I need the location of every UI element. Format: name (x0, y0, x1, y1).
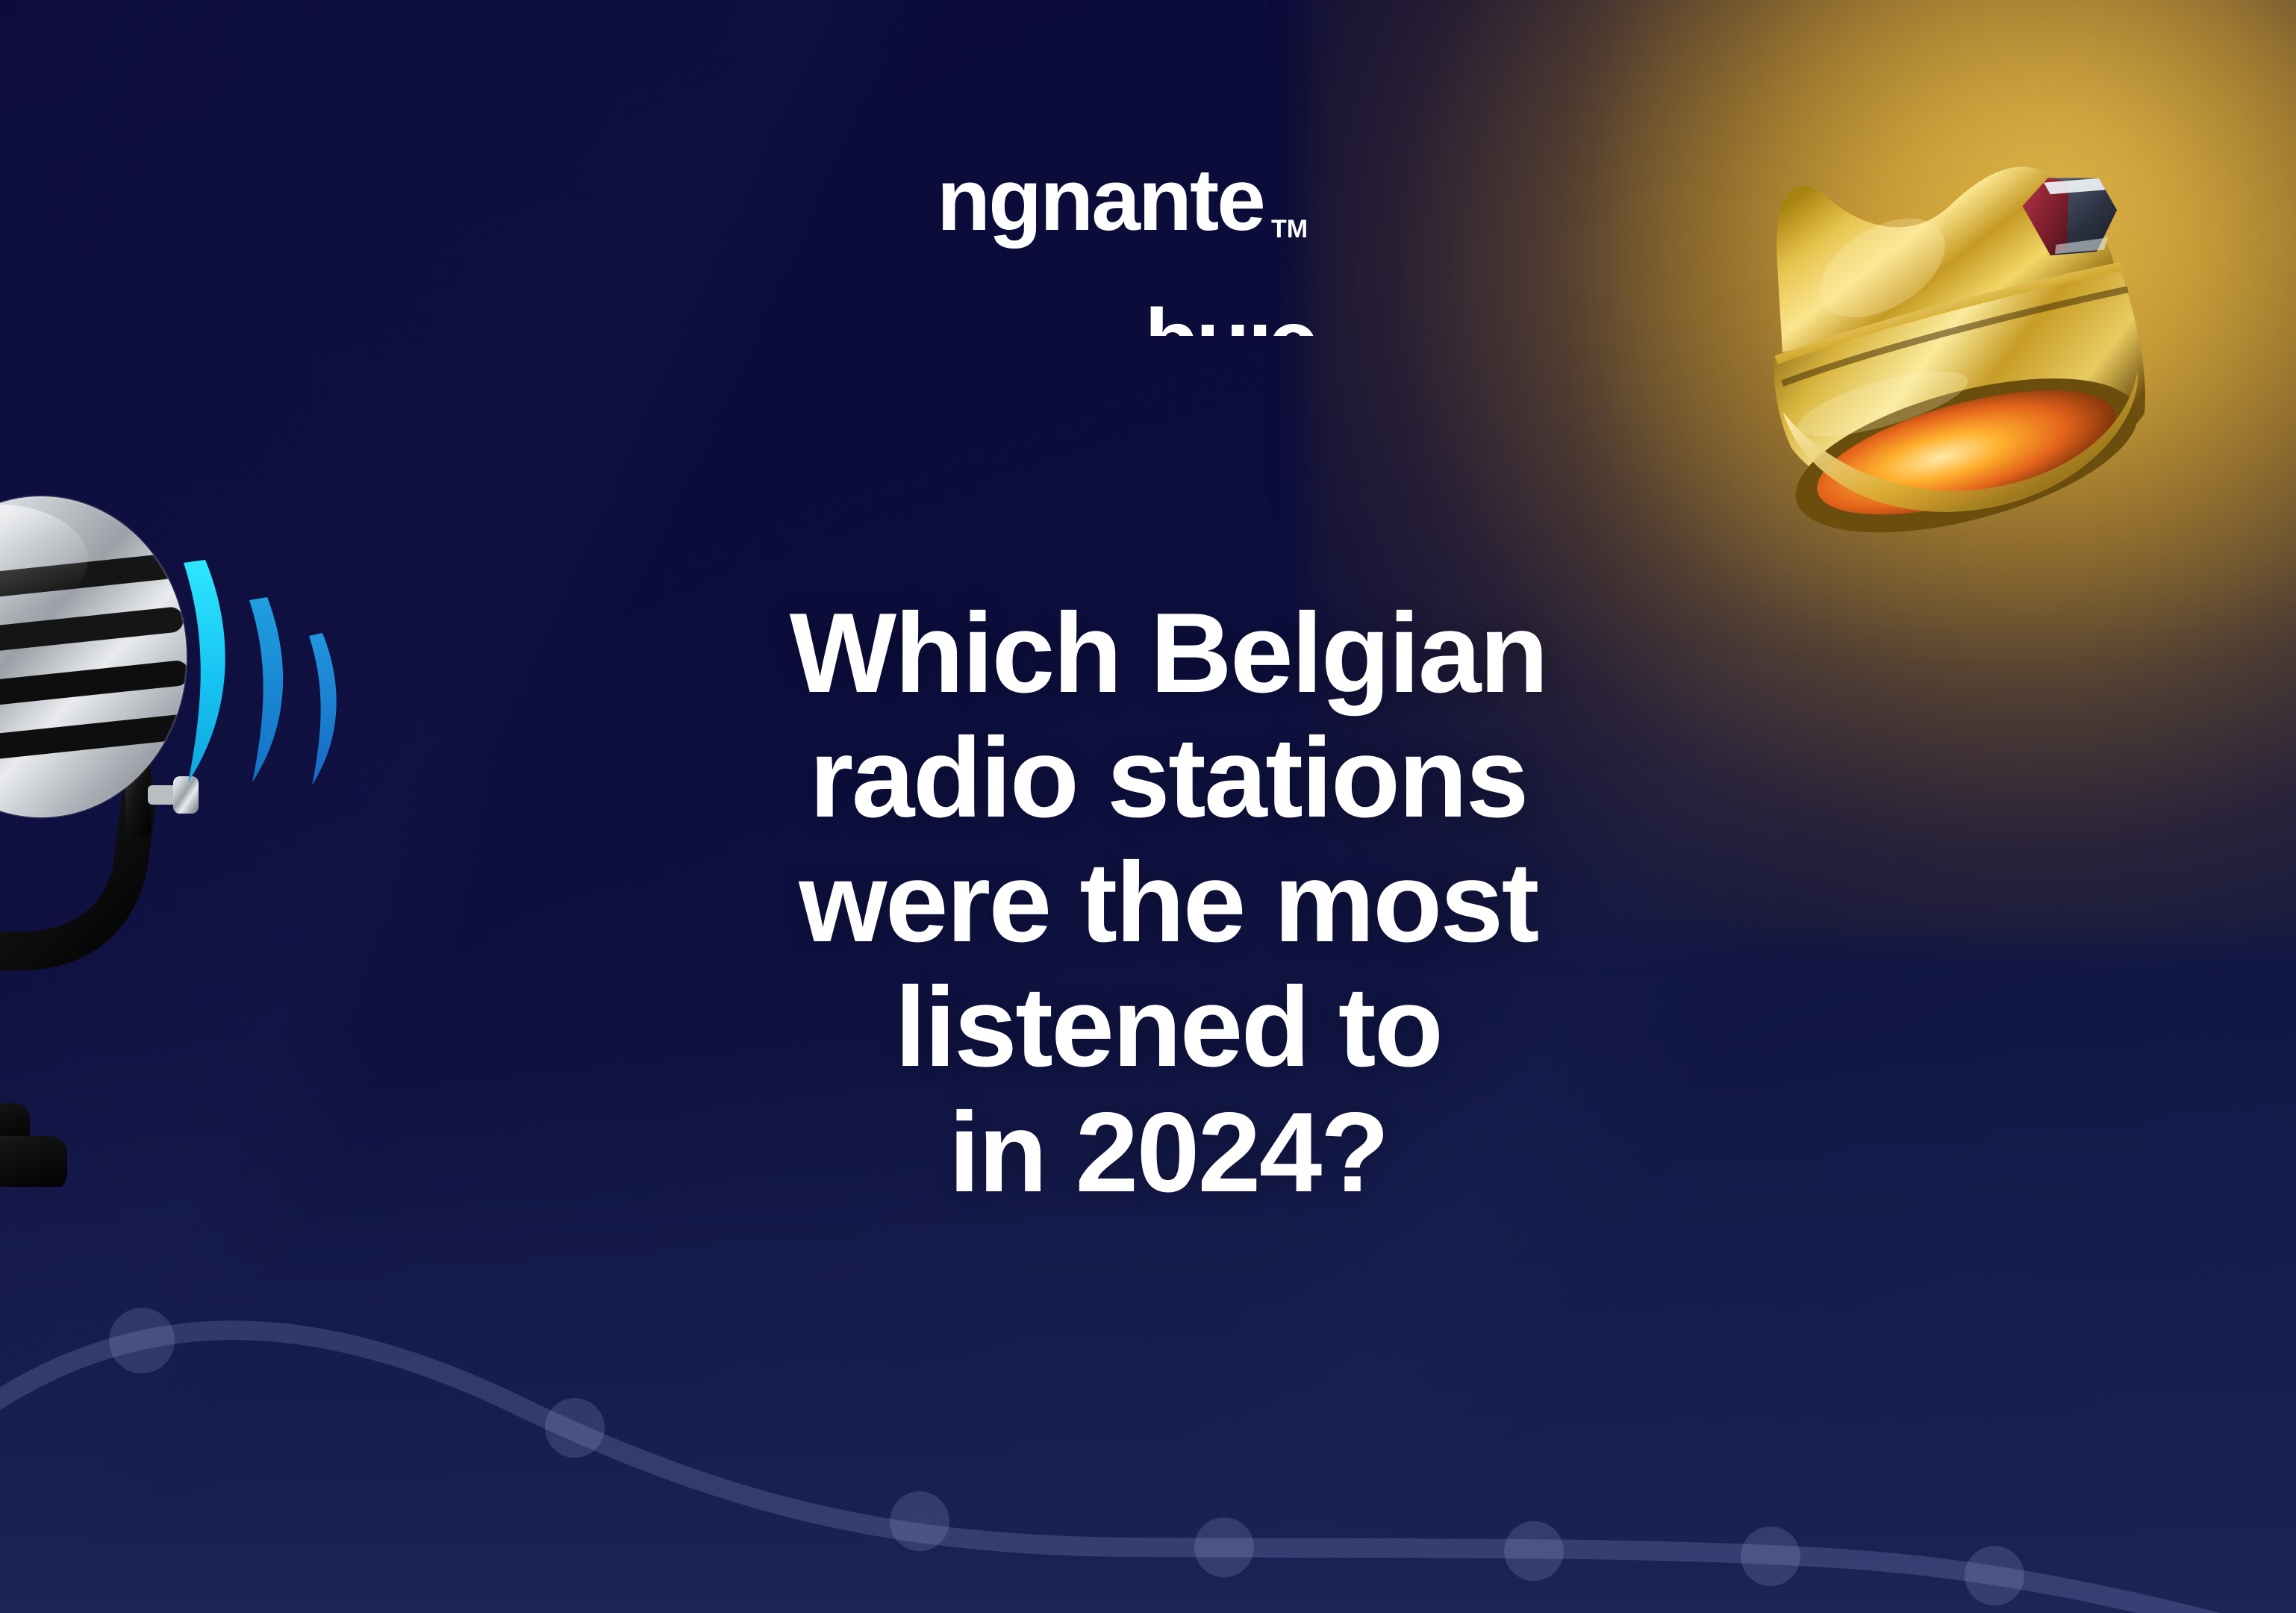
wave-node (545, 1398, 605, 1458)
crown-body (1741, 137, 2168, 565)
trademark-mark: TM (1271, 215, 1308, 243)
headline-line-4: listened to (508, 965, 1829, 1090)
headline: Which Belgian radio stations were the mo… (508, 591, 1829, 1215)
wave-node (890, 1491, 949, 1551)
logo-word-primary: ngnante (937, 151, 1264, 249)
headline-line-3: were the most (508, 840, 1829, 965)
microphone-stand (0, 760, 199, 1187)
wave-node (109, 1308, 175, 1373)
line-chart-wave (0, 1195, 2296, 1613)
poster-canvas: ngnante cinq TM Which Belgian radio stat… (0, 0, 2296, 1613)
gold-crown-illustration (1702, 30, 2247, 567)
wave-node (1965, 1546, 2024, 1606)
headline-line-5: in 2024? (508, 1091, 1829, 1215)
wave-path (0, 1330, 2296, 1613)
brand-logo[interactable]: ngnante cinq TM (937, 142, 1429, 336)
sound-wave-arc-2 (249, 597, 283, 782)
sound-wave-arc-3 (309, 633, 337, 785)
wave-node (1504, 1521, 1564, 1581)
logo-word-secondary: cinq (1147, 305, 1319, 336)
sound-wave-arc-1 (184, 560, 225, 782)
wave-node (1741, 1526, 1800, 1586)
headline-line-1: Which Belgian (508, 591, 1829, 716)
microphone-illustration (0, 448, 388, 1187)
wave-node (1194, 1517, 1254, 1577)
headline-line-2: radio stations (508, 716, 1829, 840)
sound-wave-arcs (184, 560, 337, 785)
logo-word-secondary-mirrored: cinq (1147, 305, 1319, 336)
microphone-capsule (0, 496, 196, 817)
